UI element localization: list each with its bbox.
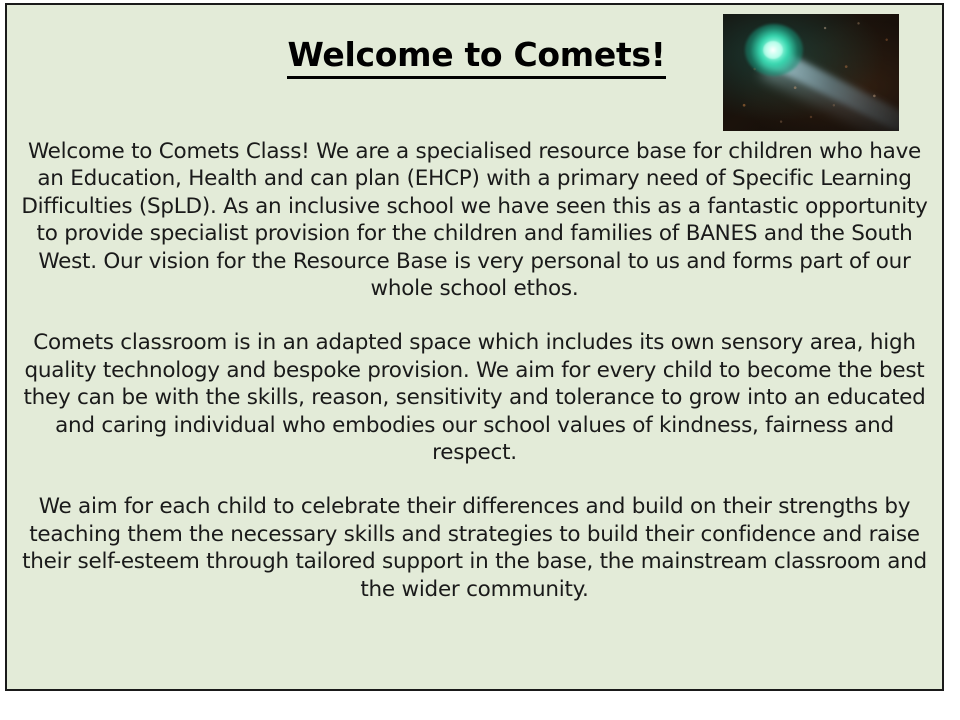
slide-canvas: Welcome to Comets! Welcome to Comets Cla… (5, 3, 944, 691)
paragraph-2: Comets classroom is in an adapted space … (17, 329, 932, 466)
paragraph-3: We aim for each child to celebrate their… (17, 493, 932, 603)
page-title: Welcome to Comets! (7, 35, 944, 79)
paragraph-1: Welcome to Comets Class! We are a specia… (17, 138, 932, 302)
page-title-text: Welcome to Comets! (287, 35, 665, 79)
body-copy: Welcome to Comets Class! We are a specia… (17, 138, 932, 603)
